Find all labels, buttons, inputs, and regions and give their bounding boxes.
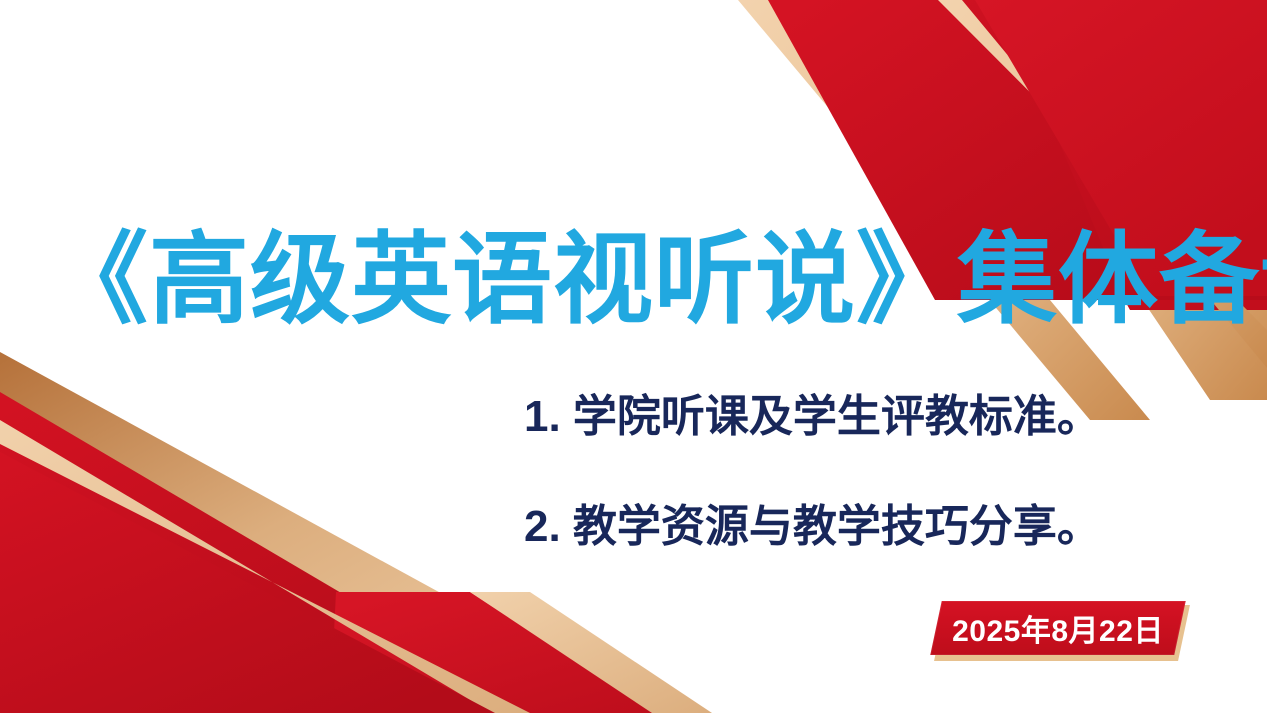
date-badge: 2025年8月22日 bbox=[936, 601, 1186, 665]
agenda-item-2: 2. 教学资源与教学技巧分享。 bbox=[524, 499, 1204, 555]
date-badge-label: 2025年8月22日 bbox=[936, 601, 1180, 655]
agenda-list: 1. 学院听课及学生评教标准。 2. 教学资源与教学技巧分享。 bbox=[524, 389, 1204, 555]
agenda-item-1: 1. 学院听课及学生评教标准。 bbox=[524, 389, 1204, 445]
decor-top-right bbox=[738, 0, 1267, 420]
presentation-slide: 《高级英语视听说》集体备课 1. 学院听课及学生评教标准。 2. 教学资源与教学… bbox=[0, 0, 1267, 713]
slide-title: 《高级英语视听说》集体备课 bbox=[48, 222, 1158, 338]
